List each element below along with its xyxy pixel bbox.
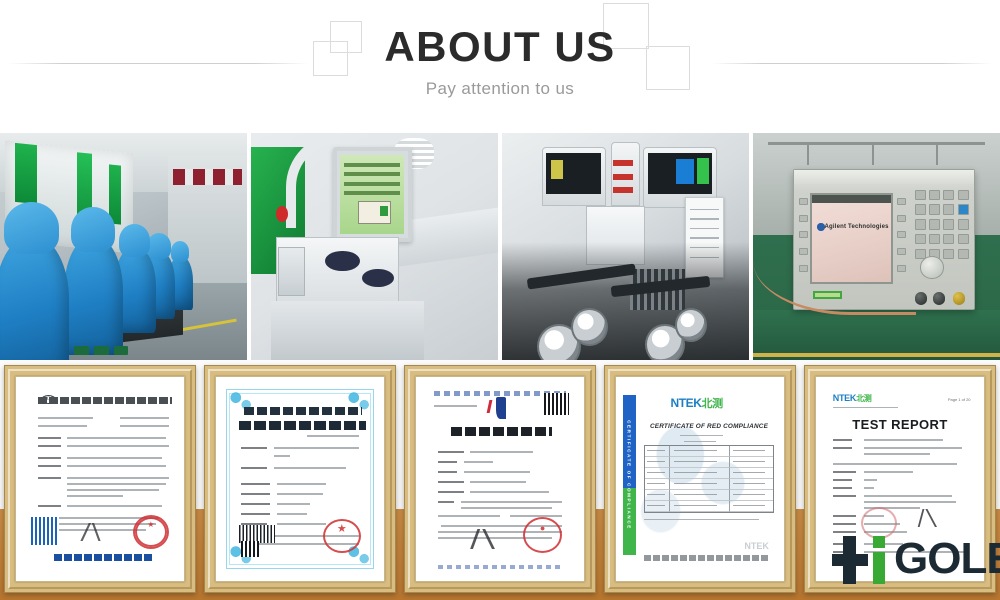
cert-qr-code (241, 541, 259, 557)
cert-signature (912, 509, 955, 527)
page-subtitle: Pay attention to us (0, 68, 1000, 99)
certificate-design-patent[interactable] (400, 360, 600, 600)
ntek-brand-logo: NTEK北测 (833, 393, 872, 404)
photo-assembly-line[interactable] (0, 133, 247, 360)
higole-brand-logo: GOLE 高乐 (832, 528, 1000, 590)
cert-issuer-cqc (54, 554, 152, 561)
certificate-red-compliance[interactable]: CERTIFICATE OF COMPLIANCE NTEK北测 CERTIFI… (600, 360, 800, 600)
cert-signature (467, 529, 516, 549)
cert-sidebar: CERTIFICATE OF COMPLIANCE (623, 395, 636, 555)
cert-red-seal (133, 515, 169, 549)
cert-qr-code (544, 393, 569, 415)
page-number-label: Page 1 of 20 (948, 397, 971, 402)
cert-title-red-compliance: CERTIFICATE OF RED COMPLIANCE (646, 423, 772, 430)
header-titles: ABOUT US Pay attention to us (0, 0, 1000, 99)
certificate-software-copyright[interactable] (200, 360, 400, 600)
cert-title-design-patent (451, 427, 553, 436)
photo-rf-test-equipment[interactable]: Agilent Technologies (753, 133, 1000, 360)
higole-wordmark: GOLE (894, 537, 1000, 581)
ntek-watermark: NTEK (744, 541, 769, 551)
cert-qr-code (31, 517, 59, 545)
ntek-brand-logo: NTEK北测 (670, 395, 722, 411)
facility-photo-gallery: Agilent Technologies (0, 133, 1000, 360)
cert-signature (77, 523, 126, 541)
page-header: ABOUT US Pay attention to us (0, 0, 1000, 133)
compliance-table (644, 445, 774, 513)
cert-red-seal (323, 519, 361, 553)
photo-pick-and-place-machine[interactable] (502, 133, 749, 360)
photo-smt-inspection-machine[interactable] (251, 133, 498, 360)
cert-title-ccc (38, 397, 173, 404)
cert-title-line1 (244, 407, 362, 415)
patent-logo-icon (487, 397, 508, 419)
cert-red-seal (523, 517, 562, 553)
page-title: ABOUT US (0, 0, 1000, 68)
higole-hi-mark-icon (832, 532, 894, 586)
cert-title-test-report: TEST REPORT (818, 417, 982, 432)
about-us-page: ABOUT US Pay attention to us (0, 0, 1000, 600)
cert-title-line2 (239, 421, 365, 430)
certificate-ccc-product[interactable]: CCC (0, 360, 200, 600)
cert-sidebar-label: CERTIFICATE OF COMPLIANCE (627, 420, 632, 530)
